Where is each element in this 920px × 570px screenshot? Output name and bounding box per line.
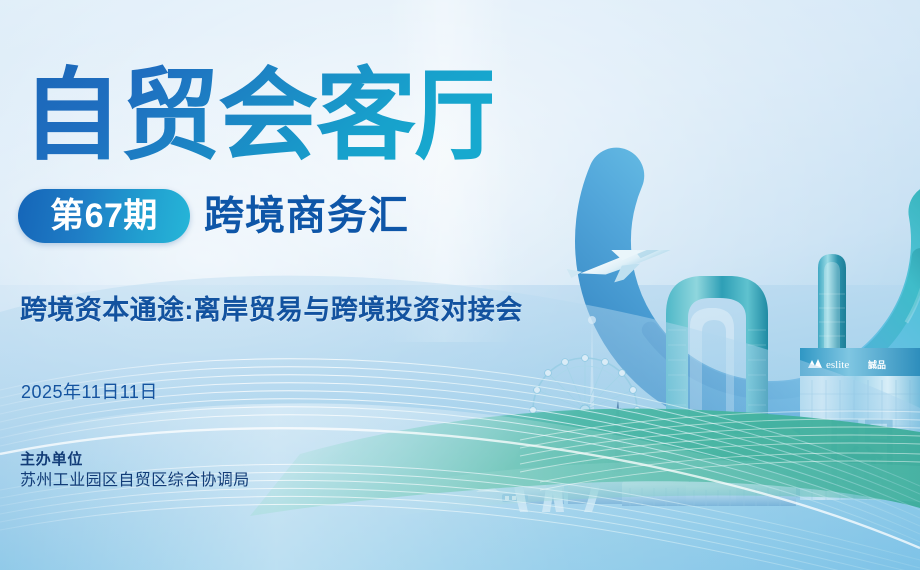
main-title: 自贸会客厅 [22,52,492,177]
main-title-text: 自贸会客厅 [22,61,492,172]
event-subtitle: 跨境资本通途:离岸贸易与跨境投资对接会 [20,288,523,327]
organizer-name: 苏州工业园区自贸区综合协调局 [20,470,250,493]
organizer-block: 主办单位 苏州工业园区自贸区综合协调局 [20,449,250,493]
series-title: 跨境商务汇 [204,196,409,236]
issue-badge: 第67期 [18,189,190,243]
promo-banner: eslite 誠品 閱 [0,0,920,570]
banner-content: 自贸会客厅 第67期 跨境商务汇 跨境资本通途:离岸贸易与跨境投资对接会 202… [0,0,920,570]
organizer-label: 主办单位 [20,449,250,470]
event-date: 2025年11日11日 [21,378,158,404]
issue-badge-label: 第67期 [50,199,158,233]
issue-and-series-row: 第67期 跨境商务汇 [18,189,409,243]
